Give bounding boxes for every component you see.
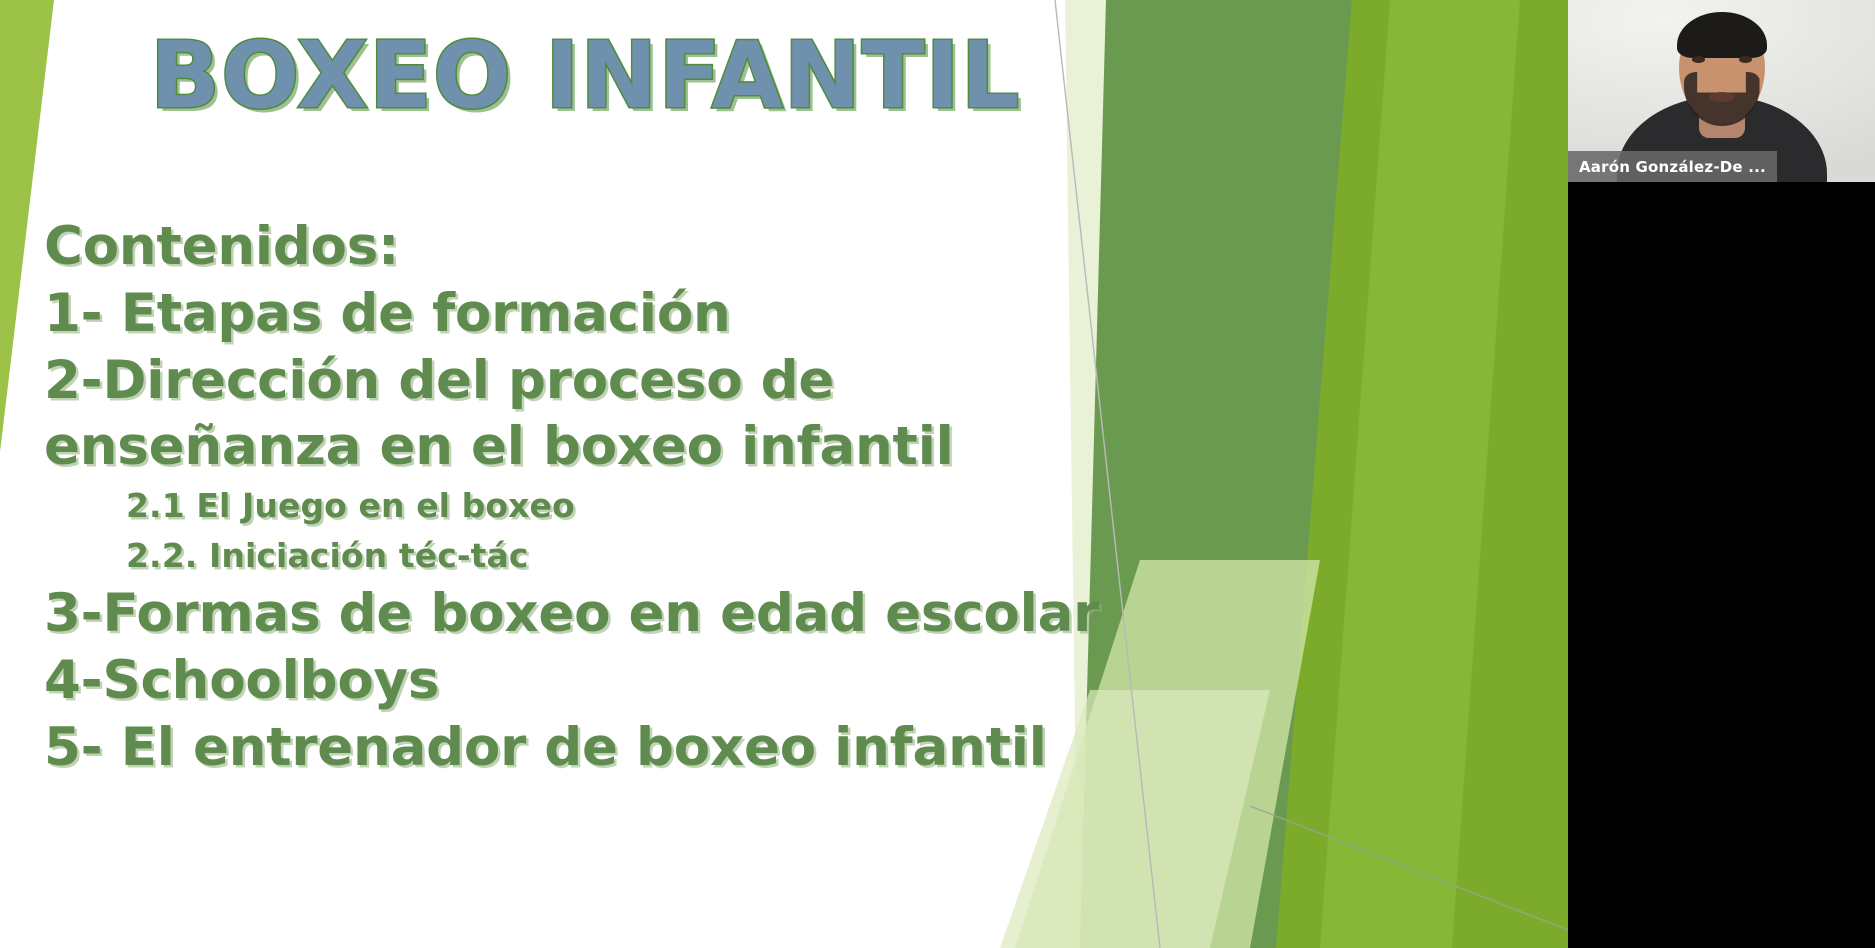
empty-video-area [1568, 182, 1875, 948]
webcam-video-feed[interactable]: Aarón González-De ... [1568, 0, 1875, 182]
screen-share-view: BOXEO INFANTIL Contenidos: 1- Etapas de … [0, 0, 1875, 948]
participant-eye-right [1739, 56, 1752, 63]
list-item: 4-Schoolboys [44, 648, 1164, 715]
slide-content-heading: Contenidos: [44, 214, 1164, 281]
right-mid-green-overlay [1320, 0, 1520, 948]
participant-video-tile[interactable]: Aarón González-De ... [1568, 0, 1875, 948]
deco-hairline-2 [1250, 806, 1568, 930]
participant-eye-left [1692, 56, 1705, 63]
list-item: 2.2. Iniciación téc-tác [126, 531, 1164, 581]
list-item: 2-Dirección del proceso de enseñanza en … [44, 348, 1164, 482]
participant-mouth [1709, 92, 1735, 102]
list-item: 5- El entrenador de boxeo infantil [44, 715, 1164, 782]
right-bright-green-band [1276, 0, 1568, 948]
list-item: 2.1 El Juego en el boxeo [126, 481, 1164, 531]
shared-slide: BOXEO INFANTIL Contenidos: 1- Etapas de … [0, 0, 1568, 948]
participant-name-label: Aarón González-De ... [1568, 151, 1777, 182]
list-item: 3-Formas de boxeo en edad escolar [44, 581, 1164, 648]
slide-content-list: Contenidos: 1- Etapas de formación 2-Dir… [44, 214, 1164, 782]
slide-title: BOXEO INFANTIL [150, 28, 1020, 125]
list-item: 1- Etapas de formación [44, 281, 1164, 348]
